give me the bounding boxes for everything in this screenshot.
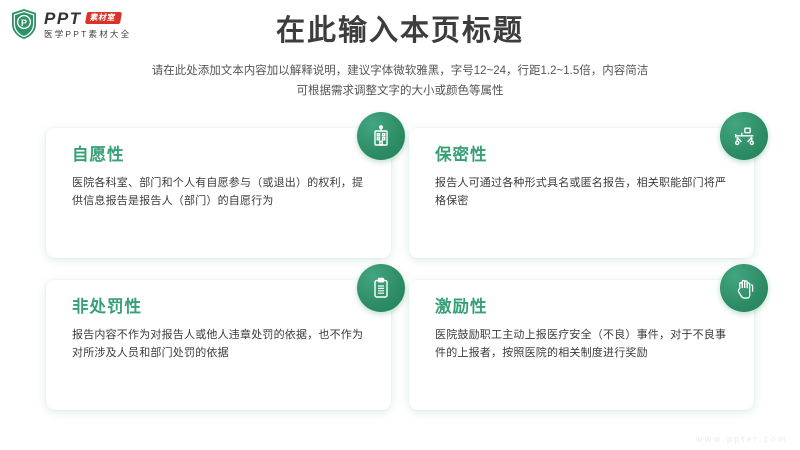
card-title: 自愿性 — [72, 146, 369, 166]
hospital-bed-icon — [720, 112, 768, 160]
hospital-building-icon — [357, 112, 405, 160]
feature-card[interactable]: 自愿性 医院各科室、部门和个人有自愿参与（或退出）的权利，提供信息报告是报告人（… — [46, 128, 391, 258]
site-watermark: www.ppter.com — [696, 434, 788, 444]
card-body: 报告内容不作为对报告人或他人违章处罚的依据，也不作为对所涉及人员和部门处罚的依据 — [72, 326, 369, 362]
page-title: 在此输入本页标题 — [0, 14, 800, 49]
feature-card[interactable]: 非处罚性 报告内容不作为对报告人或他人违章处罚的依据，也不作为对所涉及人员和部门… — [46, 280, 391, 410]
page-subtitle: 请在此处添加文本内容加以解释说明，建议字体微软雅黑，字号12~24，行距1.2~… — [0, 61, 800, 101]
slide-header: 在此输入本页标题 请在此处添加文本内容加以解释说明，建议字体微软雅黑，字号12~… — [0, 14, 800, 101]
card-body: 医院各科室、部门和个人有自愿参与（或退出）的权利，提供信息报告是报告人（部门）的… — [72, 174, 369, 210]
raised-hand-icon — [720, 264, 768, 312]
card-title: 保密性 — [435, 146, 732, 166]
feature-card-grid: 自愿性 医院各科室、部门和个人有自愿参与（或退出）的权利，提供信息报告是报告人（… — [46, 128, 754, 410]
feature-card[interactable]: 激励性 医院鼓励职工主动上报医疗安全（不良）事件，对于不良事件的上报者，按照医院… — [409, 280, 754, 410]
card-title: 非处罚性 — [72, 298, 369, 318]
card-body: 报告人可通过各种形式具名或匿名报告，相关职能部门将严格保密 — [435, 174, 732, 210]
feature-card[interactable]: 保密性 报告人可通过各种形式具名或匿名报告，相关职能部门将严格保密 — [409, 128, 754, 258]
subtitle-line-2: 可根据需求调整文字的大小或颜色等属性 — [0, 81, 800, 101]
card-body: 医院鼓励职工主动上报医疗安全（不良）事件，对于不良事件的上报者，按照医院的相关制… — [435, 326, 732, 362]
subtitle-line-1: 请在此处添加文本内容加以解释说明，建议字体微软雅黑，字号12~24，行距1.2~… — [0, 61, 800, 81]
clipboard-icon — [357, 264, 405, 312]
card-title: 激励性 — [435, 298, 732, 318]
